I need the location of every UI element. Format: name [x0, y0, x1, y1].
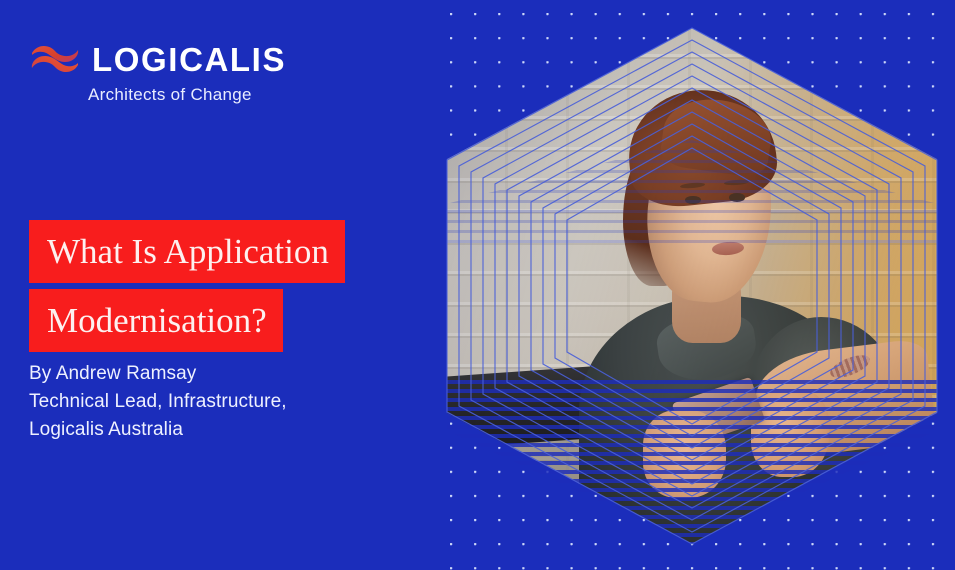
brand-logo-row: LOGICALIS	[29, 42, 286, 76]
brand-tagline: Architects of Change	[88, 85, 252, 105]
logicalis-wave-ribbon-icon	[29, 42, 81, 76]
brand-wordmark: LOGICALIS	[92, 43, 286, 76]
slide-canvas: LOGICALIS Architects of Change What Is A…	[0, 0, 955, 570]
page-title-line-2: Modernisation?	[29, 289, 283, 352]
page-title-line-1: What Is Application	[29, 220, 345, 283]
brand-logo: LOGICALIS Architects of Change	[29, 42, 286, 105]
page-title: What Is Application Modernisation?	[29, 220, 345, 352]
byline-role: Technical Lead, Infrastructure,	[29, 388, 287, 416]
byline-author: By Andrew Ramsay	[29, 360, 287, 388]
byline: By Andrew Ramsay Technical Lead, Infrast…	[29, 360, 287, 444]
byline-organisation: Logicalis Australia	[29, 416, 287, 444]
